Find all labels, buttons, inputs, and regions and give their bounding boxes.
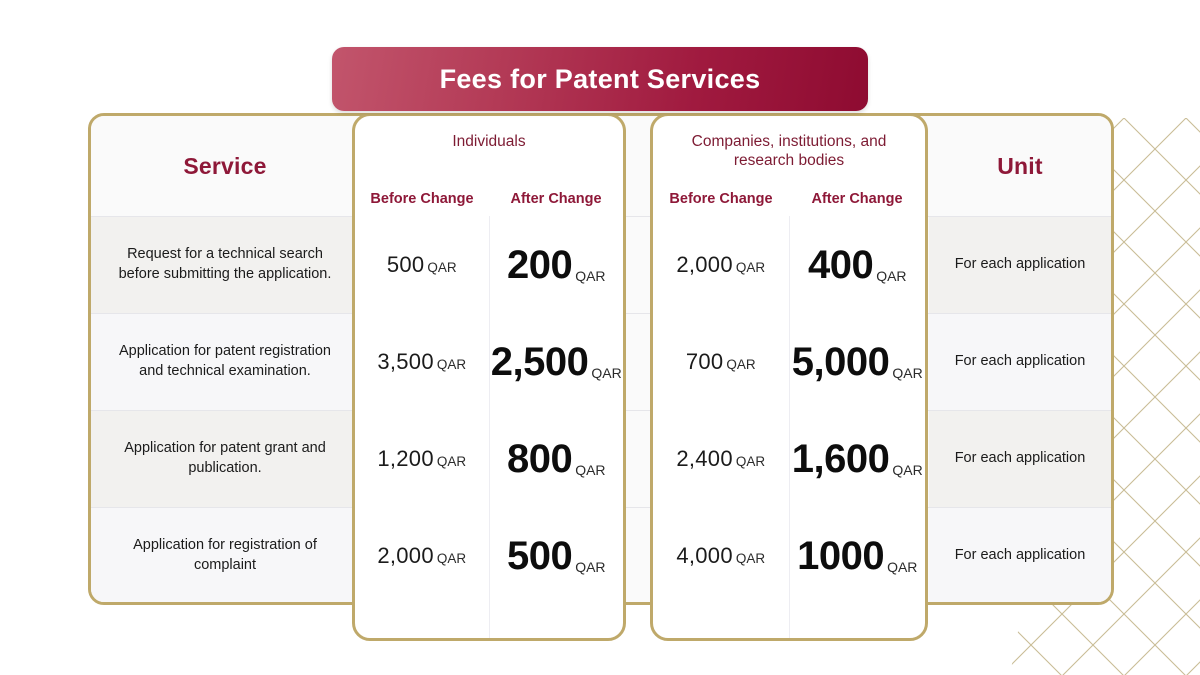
service-text: Application for patent grant and publica…: [105, 439, 345, 478]
value-cell: 400 QAR: [790, 216, 926, 313]
amount-value: 1000: [797, 536, 884, 576]
amount-value: 700: [686, 351, 724, 373]
group-card-individuals: Individuals Before Change After Change 5…: [352, 113, 626, 641]
value-cell: 2,400 QAR: [653, 410, 789, 507]
group-values: 500 QAR 3,500 QAR 1,200 QAR: [355, 216, 623, 638]
value-cell: 3,500 QAR: [355, 313, 489, 410]
service-text: Application for registration of complain…: [105, 536, 345, 575]
amount-value: 1,600: [792, 439, 890, 479]
currency-label: QAR: [892, 366, 922, 380]
amount-value: 2,000: [676, 254, 733, 276]
currency-label: QAR: [591, 366, 621, 380]
title-banner: Fees for Patent Services: [332, 47, 868, 111]
value-cell: 700 QAR: [653, 313, 789, 410]
currency-label: QAR: [575, 269, 605, 283]
value-cell: 2,500 QAR: [490, 313, 624, 410]
amount-value: 4,000: [676, 545, 733, 567]
amount-value: 1,200: [377, 448, 434, 470]
unit-header-label: Unit: [997, 153, 1043, 180]
subcolumn-after: 400 QAR 5,000 QAR 1,600 QAR: [789, 216, 926, 638]
service-cell: Application for patent grant and publica…: [91, 411, 359, 507]
currency-label: QAR: [437, 358, 466, 372]
value-cell: 500 QAR: [490, 507, 624, 604]
amount-value: 5,000: [792, 342, 890, 382]
value-cell: 200 QAR: [490, 216, 624, 313]
unit-text: For each application: [955, 255, 1086, 275]
subcolumn-header-before: Before Change: [355, 191, 489, 207]
group-subcolumn-headers: Before Change After Change: [653, 191, 925, 207]
subcolumn-header-before: Before Change: [653, 191, 789, 207]
amount-value: 500: [507, 536, 572, 576]
currency-label: QAR: [887, 560, 917, 574]
unit-column-header: Unit: [929, 116, 1111, 216]
value-cell: 5,000 QAR: [790, 313, 926, 410]
service-header-label: Service: [183, 153, 266, 180]
service-cell: Application for patent registration and …: [91, 314, 359, 410]
currency-label: QAR: [437, 552, 466, 566]
service-text: Application for patent registration and …: [105, 342, 345, 381]
currency-label: QAR: [736, 261, 765, 275]
currency-label: QAR: [736, 455, 765, 469]
unit-text: For each application: [955, 449, 1086, 469]
subcolumn-after: 200 QAR 2,500 QAR 800 QAR: [489, 216, 624, 638]
unit-cell: For each application: [929, 217, 1111, 313]
currency-label: QAR: [437, 455, 466, 469]
unit-text: For each application: [955, 352, 1086, 372]
group-header: Companies, institutions, and research bo…: [653, 116, 925, 216]
service-column-header: Service: [91, 116, 359, 216]
value-cell: 1,600 QAR: [790, 410, 926, 507]
amount-value: 800: [507, 439, 572, 479]
unit-cell: For each application: [929, 508, 1111, 602]
subcolumn-before: 2,000 QAR 700 QAR 2,400 QAR: [653, 216, 789, 638]
group-subcolumn-headers: Before Change After Change: [355, 191, 623, 207]
amount-value: 500: [387, 254, 425, 276]
service-cell: Request for a technical search before su…: [91, 217, 359, 313]
group-header: Individuals Before Change After Change: [355, 116, 623, 216]
value-cell: 2,000 QAR: [355, 507, 489, 604]
value-cell: 1,200 QAR: [355, 410, 489, 507]
amount-value: 400: [808, 245, 873, 285]
subcolumn-before: 500 QAR 3,500 QAR 1,200 QAR: [355, 216, 489, 638]
value-cell: 2,000 QAR: [653, 216, 789, 313]
group-values: 2,000 QAR 700 QAR 2,400 QAR: [653, 216, 925, 638]
amount-value: 2,400: [676, 448, 733, 470]
group-card-companies: Companies, institutions, and research bo…: [650, 113, 928, 641]
unit-cell: For each application: [929, 411, 1111, 507]
value-cell: 800 QAR: [490, 410, 624, 507]
currency-label: QAR: [726, 358, 755, 372]
service-cell: Application for registration of complain…: [91, 508, 359, 602]
amount-value: 2,000: [377, 545, 434, 567]
service-text: Request for a technical search before su…: [105, 245, 345, 284]
amount-value: 2,500: [491, 342, 589, 382]
unit-cell: For each application: [929, 314, 1111, 410]
value-cell: 500 QAR: [355, 216, 489, 313]
page-title: Fees for Patent Services: [440, 64, 761, 95]
subcolumn-header-after: After Change: [489, 191, 623, 207]
group-title: Companies, institutions, and research bo…: [669, 132, 909, 171]
group-title: Individuals: [452, 132, 525, 151]
currency-label: QAR: [876, 269, 906, 283]
unit-text: For each application: [955, 546, 1086, 566]
value-cell: 1000 QAR: [790, 507, 926, 604]
value-cell: 4,000 QAR: [653, 507, 789, 604]
amount-value: 3,500: [377, 351, 434, 373]
currency-label: QAR: [575, 560, 605, 574]
currency-label: QAR: [736, 552, 765, 566]
currency-label: QAR: [575, 463, 605, 477]
amount-value: 200: [507, 245, 572, 285]
currency-label: QAR: [892, 463, 922, 477]
currency-label: QAR: [427, 261, 456, 275]
infographic-canvas: Service Unit Request for a technical sea…: [0, 0, 1200, 675]
subcolumn-header-after: After Change: [789, 191, 925, 207]
